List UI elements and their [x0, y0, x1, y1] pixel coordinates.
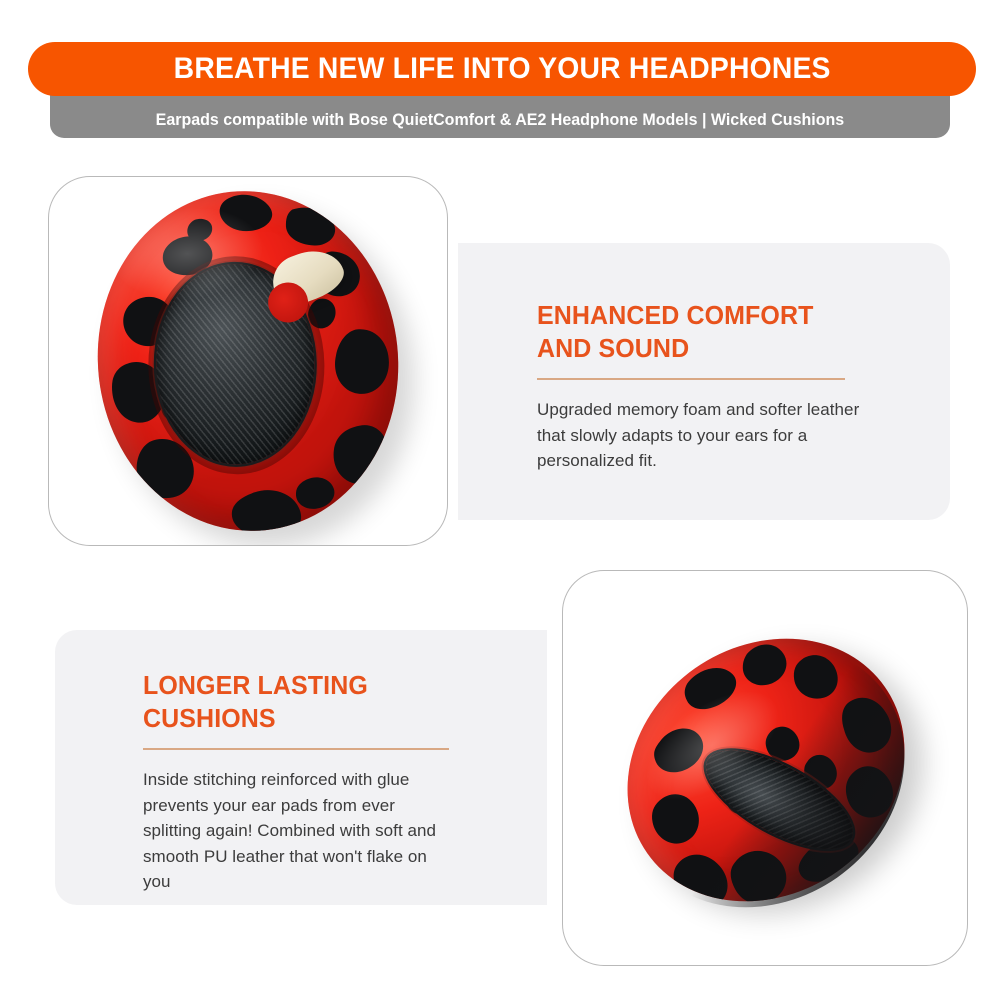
- feature-title-line-1: ENHANCED COMFORT: [537, 302, 813, 330]
- feature-title-enhanced-comfort: ENHANCED COMFORT AND SOUND: [537, 300, 860, 365]
- feature-body-longer-lasting: Inside stitching reinforced with glue pr…: [143, 767, 455, 895]
- earpad-cushion-ring: [81, 176, 415, 545]
- header-subheadline-text: Earpads compatible with Bose QuietComfor…: [156, 111, 845, 130]
- header-headline-bar: BREATHE NEW LIFE INTO YOUR HEADPHONES: [28, 42, 976, 96]
- feature-title-longer-lasting: LONGER LASTING CUSHIONS: [143, 670, 449, 735]
- feature-divider-rule: [537, 378, 845, 380]
- earpad-angled-view-illustration: [615, 618, 915, 918]
- earpad-cushion-body: [576, 585, 956, 954]
- product-image-card-angled-view: [562, 570, 968, 966]
- product-image-card-front-view: [48, 176, 448, 546]
- feature-title-line-2: AND SOUND: [537, 335, 689, 363]
- earpad-front-view-illustration: [81, 176, 415, 545]
- feature-text-enhanced-comfort: ENHANCED COMFORT AND SOUND Upgraded memo…: [537, 300, 867, 474]
- feature-body-enhanced-comfort: Upgraded memory foam and softer leather …: [537, 397, 867, 474]
- feature-title-line-1: LONGER LASTING: [143, 672, 368, 700]
- feature-text-longer-lasting: LONGER LASTING CUSHIONS Inside stitching…: [143, 670, 455, 895]
- header-headline-text: BREATHE NEW LIFE INTO YOUR HEADPHONES: [174, 52, 831, 86]
- feature-title-line-2: CUSHIONS: [143, 705, 276, 733]
- feature-divider-rule: [143, 748, 449, 750]
